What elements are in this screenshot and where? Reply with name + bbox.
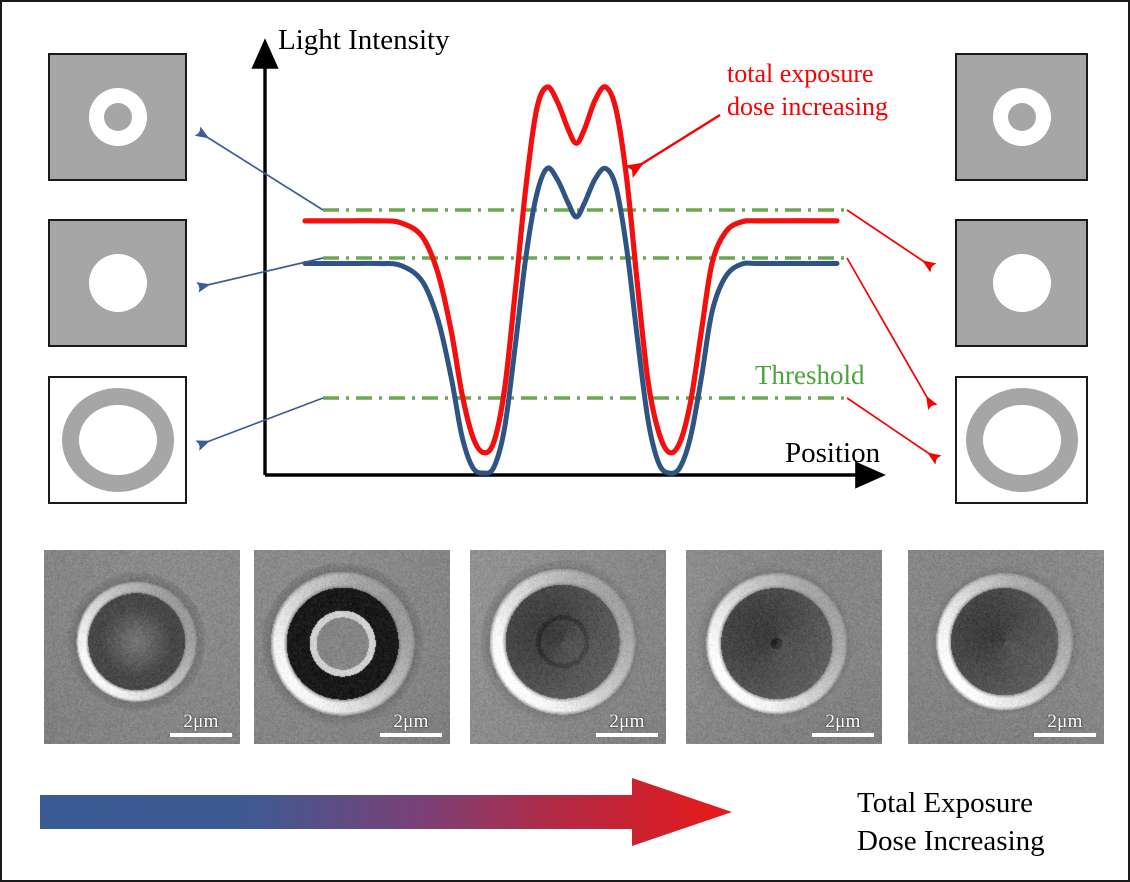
sem-image-2: 2μm [254, 550, 450, 744]
sem-image-5: 2μm [908, 550, 1104, 744]
x-axis-label: Position [785, 437, 880, 470]
sem-image-4: 2μm [686, 550, 882, 744]
dose-gradient-arrow [32, 772, 752, 862]
pointer-arrow-right-top [847, 210, 932, 267]
dose-annotation-arrow [632, 115, 720, 170]
sem-image-3: 2μm [470, 550, 666, 744]
pointer-arrow-left-top [199, 132, 323, 210]
figure-root: Light Intensity Position Threshold total… [0, 0, 1130, 882]
pointer-arrow-left-bottom [199, 398, 323, 445]
arrow-shape [40, 778, 732, 846]
sem-image-1: 2μm [44, 550, 240, 744]
dose-annotation-text: total exposure dose increasing [727, 57, 888, 123]
intensity-plot [2, 2, 1130, 532]
pointer-arrow-left-middle [199, 258, 323, 287]
threshold-label: Threshold [755, 360, 864, 391]
low-dose-curve [305, 168, 837, 473]
dose-arrow-caption: Total Exposure Dose Increasing [857, 784, 1045, 860]
y-axis-label: Light Intensity [278, 24, 450, 57]
